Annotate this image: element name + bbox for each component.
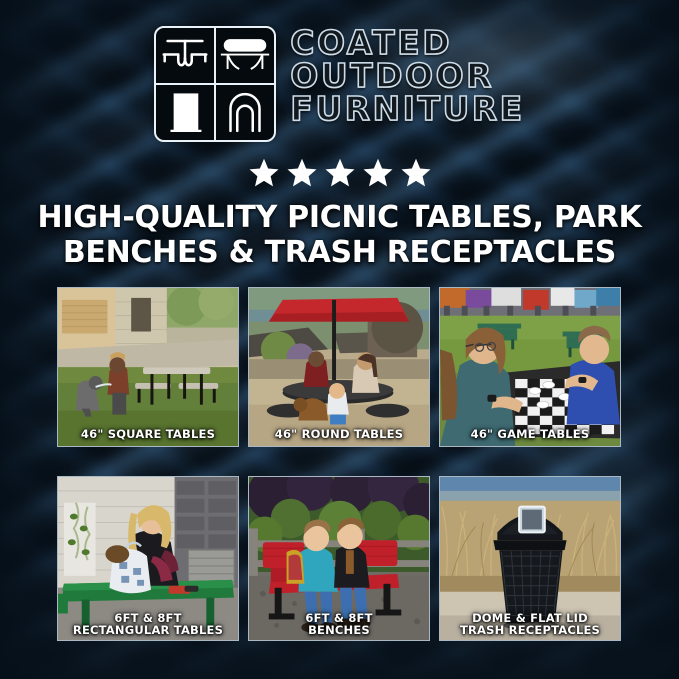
brand-line-2: OUTDOOR: [290, 60, 524, 92]
product-grid-row-2: 6FT & 8FT RECTANGULAR TABLES: [57, 476, 621, 641]
product-caption: 46" GAME TABLES: [444, 428, 616, 441]
star-icon: [325, 158, 355, 187]
caption-line-1: 46" SQUARE TABLES: [62, 428, 234, 441]
star-icon: [401, 158, 431, 187]
page-title: HIGH-QUALITY PICNIC TABLES, PARK BENCHES…: [30, 200, 649, 270]
product-tile-trash-receptacles[interactable]: DOME & FLAT LID TRASH RECEPTACLES: [439, 476, 621, 641]
star-icon: [363, 158, 393, 187]
star-icon: [249, 158, 279, 187]
product-caption: 6FT & 8FT RECTANGULAR TABLES: [62, 612, 234, 637]
caption-line-1: 46" GAME TABLES: [444, 428, 616, 441]
product-tile-benches[interactable]: 6FT & 8FT BENCHES: [248, 476, 430, 641]
park-bench-icon: [215, 28, 274, 84]
product-tile-square-tables[interactable]: 46" SQUARE TABLES: [57, 287, 239, 447]
star-icon: [287, 158, 317, 187]
caption-line-2: TRASH RECEPTACLES: [444, 624, 616, 637]
round-tables-photo: [249, 288, 429, 446]
caption-line-2: BENCHES: [253, 624, 425, 637]
product-tile-rectangular-tables[interactable]: 6FT & 8FT RECTANGULAR TABLES: [57, 476, 239, 641]
product-tile-round-tables[interactable]: 46" ROUND TABLES: [248, 287, 430, 447]
product-caption: 46" ROUND TABLES: [253, 428, 425, 441]
product-caption: 6FT & 8FT BENCHES: [253, 612, 425, 637]
product-tile-game-tables[interactable]: 46" GAME TABLES: [439, 287, 621, 447]
brand-line-3: FURNITURE: [290, 93, 524, 125]
headline-line-2: BENCHES & TRASH RECEPTACLES: [30, 235, 649, 270]
headline-line-1: HIGH-QUALITY PICNIC TABLES, PARK: [30, 200, 649, 235]
product-caption: DOME & FLAT LID TRASH RECEPTACLES: [444, 612, 616, 637]
brand-mark-grid: [154, 26, 276, 142]
square-tables-photo: [58, 288, 238, 446]
product-grid-row-1: 46" SQUARE TABLES: [57, 287, 621, 447]
product-caption: 46" SQUARE TABLES: [62, 428, 234, 441]
game-tables-photo: [440, 288, 620, 446]
caption-line-2: RECTANGULAR TABLES: [62, 624, 234, 637]
brand-line-1: COATED: [290, 27, 524, 59]
bike-rack-icon: [215, 84, 274, 140]
caption-line-1: 46" ROUND TABLES: [253, 428, 425, 441]
brand-wordmark: COATED OUTDOOR FURNITURE: [290, 26, 524, 125]
trash-receptacle-icon: [156, 84, 215, 140]
star-rating: [0, 158, 679, 187]
pedestal-picnic-table-icon: [156, 28, 215, 84]
brand-logo: COATED OUTDOOR FURNITURE: [0, 26, 679, 142]
